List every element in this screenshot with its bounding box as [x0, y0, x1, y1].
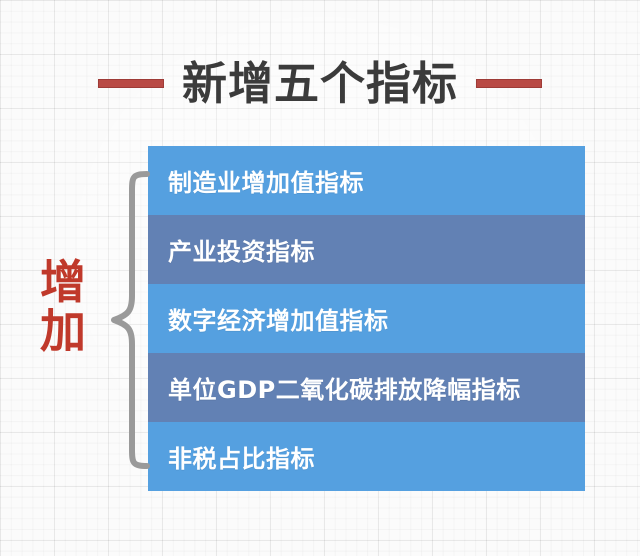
side-label-increase: 增 加 — [34, 258, 92, 356]
side-label-char-1: 增 — [34, 258, 92, 307]
curly-brace-icon — [106, 170, 150, 470]
indicator-row-1[interactable]: 制造业增加值指标 — [148, 146, 585, 215]
indicator-row-2[interactable]: 产业投资指标 — [148, 215, 585, 284]
indicator-row-5[interactable]: 非税占比指标 — [148, 422, 585, 491]
indicator-list-panel: 制造业增加值指标 产业投资指标 数字经济增加值指标 单位GDP二氧化碳排放降幅指… — [148, 146, 585, 491]
indicator-label-2: 产业投资指标 — [168, 232, 315, 267]
indicator-row-3[interactable]: 数字经济增加值指标 — [148, 284, 585, 353]
indicator-label-4: 单位GDP二氧化碳排放降幅指标 — [168, 370, 521, 405]
title-dash-right-icon — [476, 79, 542, 88]
indicator-row-4[interactable]: 单位GDP二氧化碳排放降幅指标 — [148, 353, 585, 422]
indicator-label-3: 数字经济增加值指标 — [168, 301, 389, 336]
title-dash-left-icon — [98, 79, 164, 88]
page-title: 新增五个指标 — [182, 61, 458, 106]
indicator-label-5: 非税占比指标 — [168, 439, 315, 474]
side-label-char-2: 加 — [34, 307, 92, 356]
indicator-label-1: 制造业增加值指标 — [168, 163, 364, 198]
poster-canvas: 新增五个指标 增 加 制造业增加值指标 产业投资指标 数字经济增加值指标 单位G… — [0, 0, 640, 556]
curly-brace-svg — [106, 170, 150, 470]
poster-title-row: 新增五个指标 — [0, 52, 640, 114]
